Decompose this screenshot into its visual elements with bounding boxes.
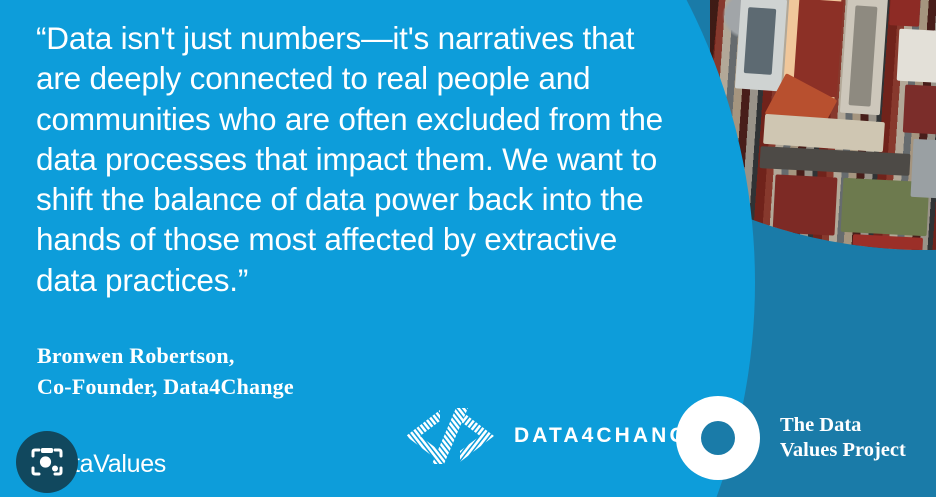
dvp-line-1: The Data xyxy=(780,413,906,438)
roof-shape xyxy=(911,139,936,199)
roof-shape xyxy=(889,0,921,27)
roof-shape xyxy=(897,29,936,84)
data-values-project-wordmark: The Data Values Project xyxy=(780,413,906,463)
screenshot-badge[interactable] xyxy=(16,431,78,493)
dvp-line-2: Values Project xyxy=(780,438,906,463)
attribution: Bronwen Robertson, Co-Founder, Data4Chan… xyxy=(37,340,294,402)
attribution-role: Co-Founder, Data4Change xyxy=(37,371,294,402)
ring-logo-icon xyxy=(676,396,760,480)
chevron-slash-logo-icon xyxy=(404,408,496,464)
camera-icon xyxy=(30,447,64,477)
data-values-project-logo[interactable]: The Data Values Project xyxy=(676,396,906,480)
attribution-name: Bronwen Robertson, xyxy=(37,340,294,371)
roof-shape xyxy=(773,174,838,235)
roof-shape xyxy=(744,7,777,75)
roof-shape xyxy=(903,85,936,136)
roof-shape xyxy=(851,234,923,280)
quote-card: “Data isn't just numbers—it's narratives… xyxy=(0,0,936,497)
pull-quote: “Data isn't just numbers—it's narratives… xyxy=(36,18,686,300)
data4change-logo[interactable]: DATA4CHANGE xyxy=(404,408,706,464)
